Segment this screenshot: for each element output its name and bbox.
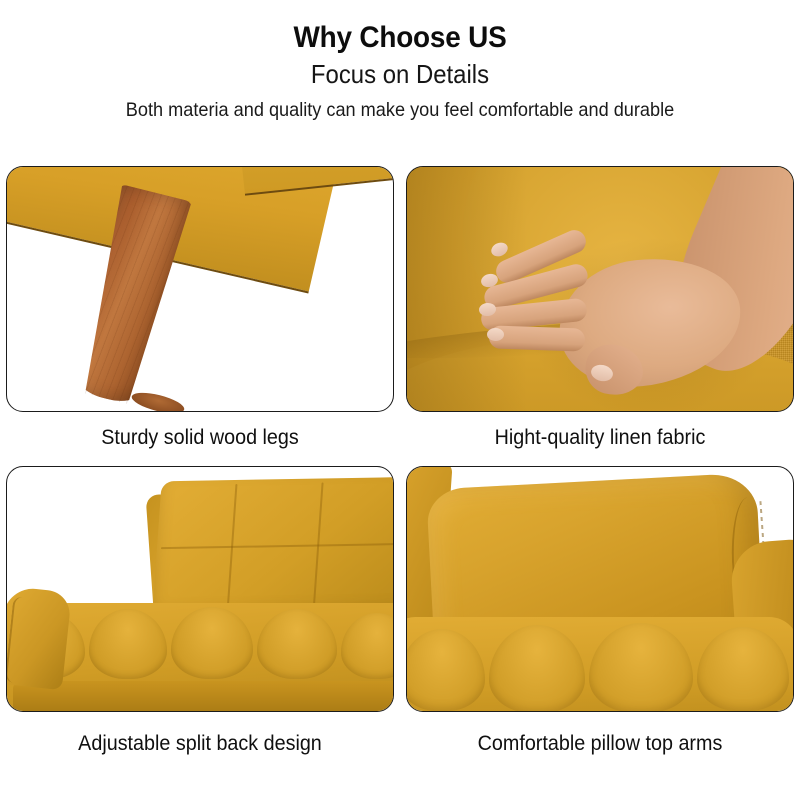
backrest-panel-right [152,477,394,620]
lower-seat-tuft-4 [697,627,789,711]
lower-seat-tuft-1 [406,629,485,711]
feature-grid: Sturdy solid wood legs [6,166,794,756]
backrest-tuft-seam-h1 [161,543,394,549]
feature-cell-split-back: Adjustable split back design [6,466,394,756]
page-tagline: Both materia and quality can make you fe… [28,98,772,123]
finger-little [489,325,586,351]
feature-image-linen-fabric [406,166,794,412]
seat-tuft-4 [257,609,337,679]
pillow-arms-scene [407,467,793,711]
split-back-scene [7,467,393,711]
feature-caption-linen-fabric: Hight-quality linen fabric [418,426,783,450]
feature-row-bottom: Adjustable split back design [6,466,794,756]
feature-image-pillow-arms [406,466,794,712]
seat-tuft-3 [171,607,253,679]
lower-seat-tuft-2 [489,625,585,712]
wood-leg-scene [7,167,393,411]
linen-fabric-scene [407,167,793,411]
backrest-tuft-seam-v2 [312,482,323,612]
wooden-leg-foot [130,389,186,412]
feature-caption-pillow-arms: Comfortable pillow top arms [418,732,783,756]
backrest-tuft-seam-v1 [226,484,237,614]
sofa-base-rail [13,681,394,712]
feature-cell-linen-fabric: Hight-quality linen fabric [406,166,794,450]
feature-caption-split-back: Adjustable split back design [18,732,383,756]
feature-image-wood-leg [6,166,394,412]
seat-tuft-5 [341,613,394,679]
feature-cell-wood-leg: Sturdy solid wood legs [6,166,394,450]
feature-image-split-back [6,466,394,712]
feature-cell-pillow-arms: Comfortable pillow top arms [406,466,794,756]
feature-row-top: Sturdy solid wood legs [6,166,794,450]
lower-seat-tuft-3 [589,623,693,712]
feature-caption-wood-leg: Sturdy solid wood legs [18,426,383,450]
page-subtitle: Focus on Details [32,58,768,91]
page-title: Why Choose US [28,20,772,55]
seat-tuft-2 [89,609,167,679]
header: Why Choose US Focus on Details Both mate… [0,0,800,123]
seat-cushion-lower [406,617,794,712]
